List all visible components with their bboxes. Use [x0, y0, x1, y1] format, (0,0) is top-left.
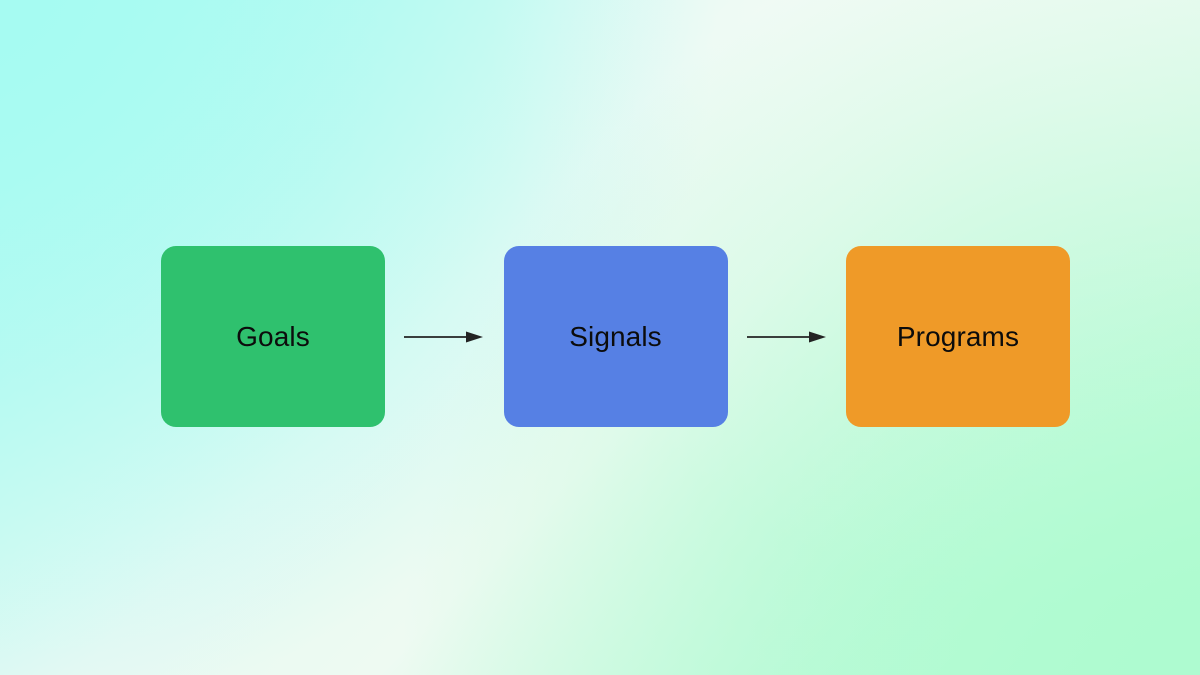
node-signals-label: Signals [569, 323, 662, 351]
diagram-canvas: Goals Signals Programs [0, 0, 1200, 675]
node-goals[interactable]: Goals [161, 246, 385, 427]
node-signals[interactable]: Signals [504, 246, 728, 427]
node-programs[interactable]: Programs [846, 246, 1070, 427]
node-programs-label: Programs [897, 323, 1019, 351]
arrow-head-icon [466, 331, 483, 342]
node-goals-label: Goals [236, 323, 310, 351]
arrow-signals-to-programs [747, 325, 827, 349]
arrow-head-icon [809, 331, 826, 342]
flow-row: Goals Signals Programs [161, 246, 1070, 427]
arrow-goals-to-signals [404, 325, 484, 349]
